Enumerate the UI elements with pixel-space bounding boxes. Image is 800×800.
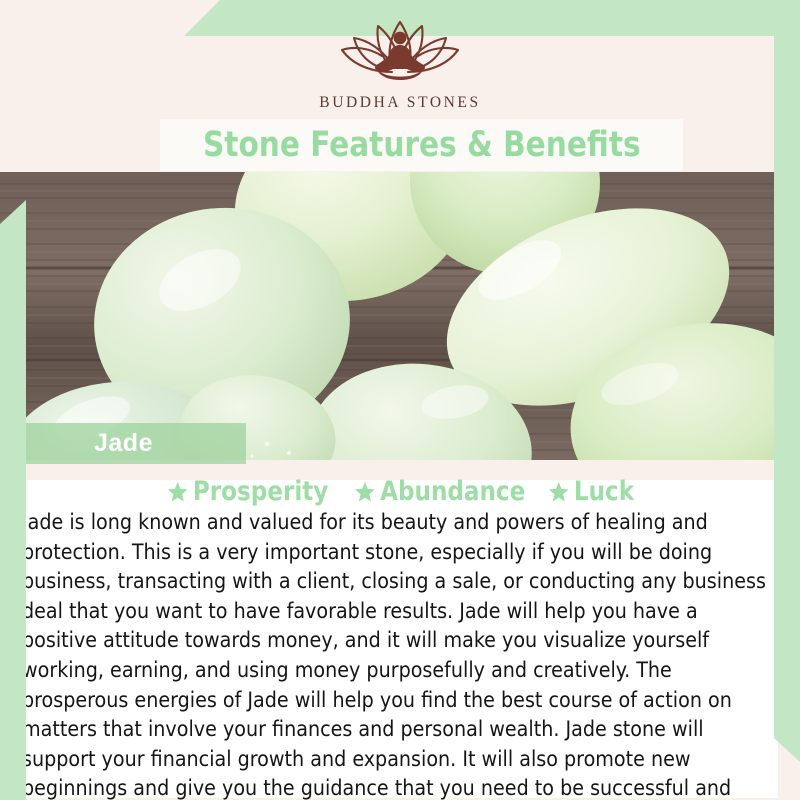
benefits-row: Prosperity Abundance Luck <box>0 476 800 507</box>
benefit-item: Prosperity <box>167 476 328 507</box>
brand-logo: BUDDHA STONES <box>0 14 800 112</box>
benefit-label: Luck <box>574 476 634 507</box>
decorative-right-band <box>774 0 800 762</box>
stone-info-card: BUDDHA STONES Stone Features & Benefits <box>0 0 800 800</box>
star-icon <box>354 481 375 503</box>
brand-name: BUDDHA STONES <box>0 94 800 112</box>
stone-name: Jade <box>94 429 153 458</box>
decorative-left-band <box>0 200 26 800</box>
page-title: Stone Features & Benefits <box>203 125 641 165</box>
benefit-item: Abundance <box>354 476 525 507</box>
stone-photo <box>0 172 800 460</box>
lotus-meditation-icon <box>326 14 474 90</box>
title-banner: Stone Features & Benefits <box>160 119 683 171</box>
benefit-label: Prosperity <box>193 476 328 507</box>
star-icon <box>167 481 188 503</box>
stone-name-band: Jade <box>26 423 246 464</box>
star-icon <box>549 481 570 503</box>
benefit-item: Luck <box>549 476 635 507</box>
jade-stones-image <box>0 172 800 460</box>
description-text: Jade is long known and valued for its be… <box>22 508 773 800</box>
benefit-label: Abundance <box>380 476 525 507</box>
